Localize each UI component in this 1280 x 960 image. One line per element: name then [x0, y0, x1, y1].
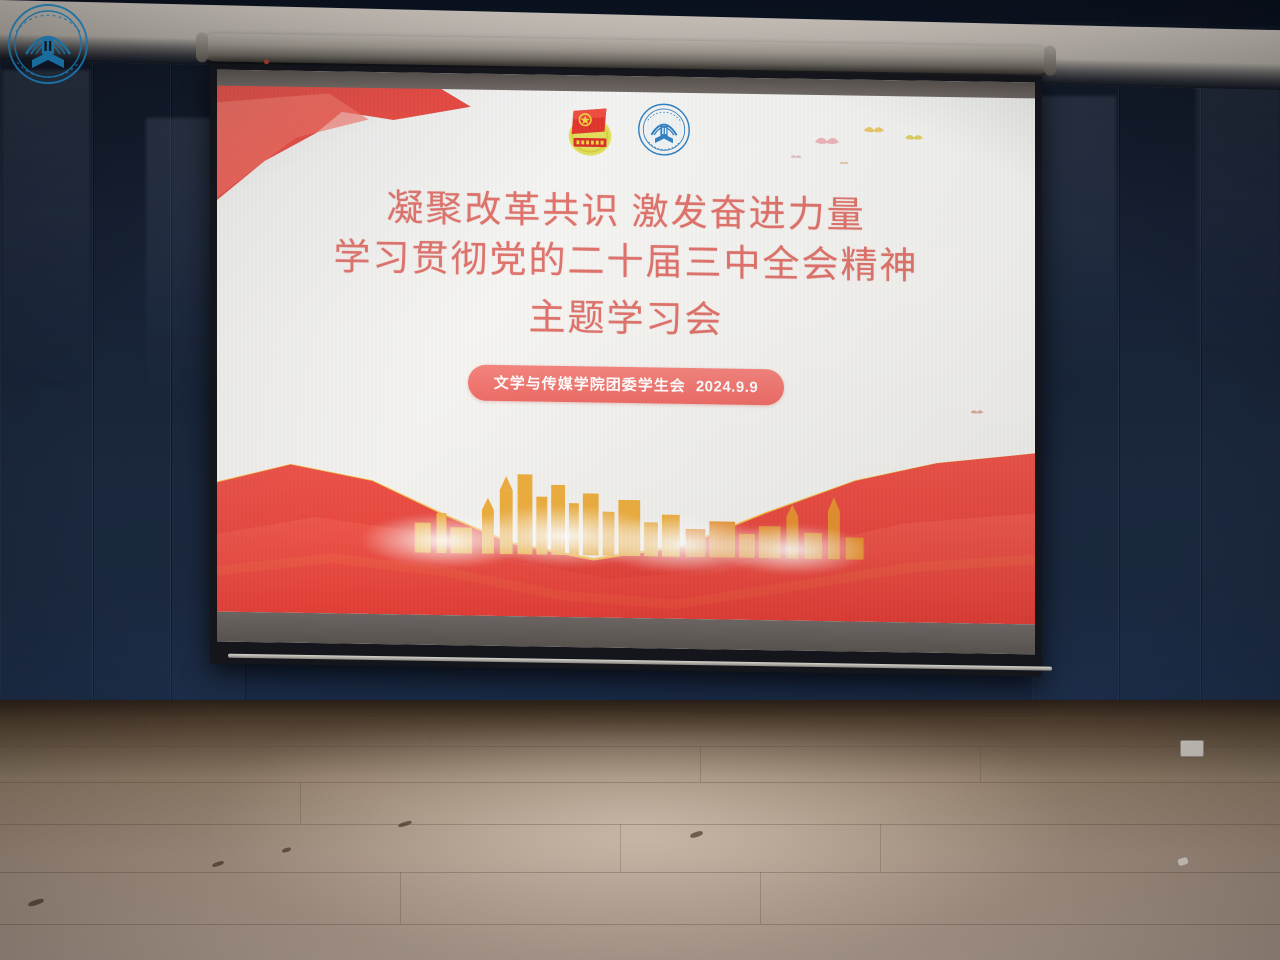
- slide-organization-banner: 文学与传媒学院团委学生会2024.9.9: [468, 364, 784, 405]
- wall-power-outlet: [1180, 740, 1204, 757]
- roller-cap-right: [1044, 46, 1056, 76]
- banner-organization: 文学与传媒学院团委学生会: [494, 375, 686, 395]
- university-seal-logo-icon: [637, 102, 691, 157]
- communist-youth-league-emblem-icon: [561, 101, 619, 160]
- screen-weight-bar: [228, 654, 1052, 671]
- floor-light-pool: [210, 730, 1070, 960]
- floor: [0, 700, 1280, 960]
- roller-cap-left: [196, 32, 208, 62]
- lecture-hall-photo: 凝聚改革共识 激发奋进力量 学习贯彻党的二十届三中全会精神 主题学习会 文学与传…: [0, 0, 1280, 960]
- university-seal-watermark-icon: [6, 2, 90, 86]
- presentation-slide: 凝聚改革共识 激发奋进力量 学习贯彻党的二十届三中全会精神 主题学习会 文学与传…: [217, 70, 1035, 655]
- projector-screen: 凝聚改革共识 激发奋进力量 学习贯彻党的二十届三中全会精神 主题学习会 文学与传…: [196, 23, 1056, 717]
- slide-title-line-3: 主题学习会: [217, 289, 1035, 351]
- screen-frame: 凝聚改革共识 激发奋进力量 学习贯彻党的二十届三中全会精神 主题学习会 文学与传…: [210, 63, 1042, 676]
- slide-title-block: 凝聚改革共识 激发奋进力量 学习贯彻党的二十届三中全会精神 主题学习会 文学与传…: [217, 182, 1035, 410]
- white-cloud-band: [348, 490, 888, 578]
- flying-dove-icon: [970, 407, 984, 416]
- banner-date: 2024.9.9: [696, 378, 758, 396]
- slide-logos: [217, 96, 1035, 167]
- screen-surface: 凝聚改革共识 激发奋进力量 学习贯彻党的二十届三中全会精神 主题学习会 文学与传…: [217, 70, 1035, 655]
